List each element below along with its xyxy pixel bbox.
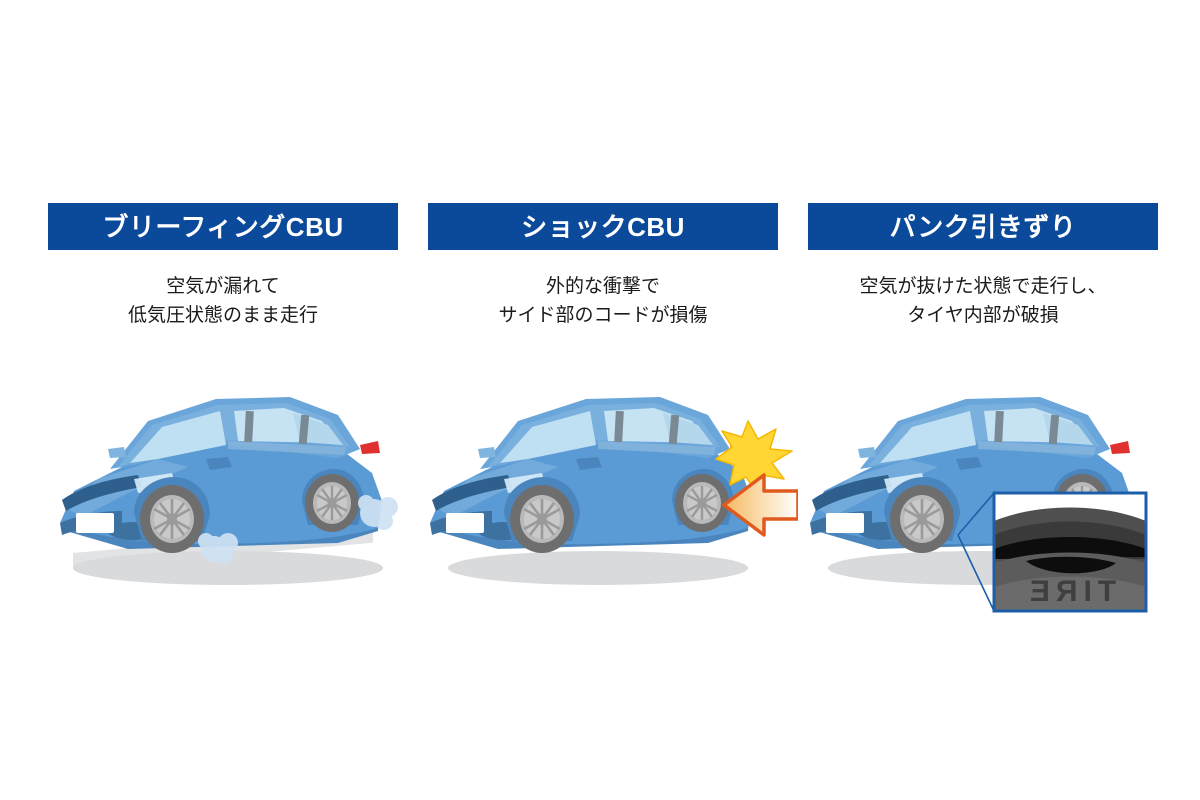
panel-header-puncture-drag: パンク引きずり: [808, 203, 1158, 250]
illustration-car-impact: [418, 363, 798, 643]
panel-description-puncture-drag: 空気が抜けた状態で走行し、 タイヤ内部が破損: [808, 272, 1158, 331]
callout-tire-text: TIRE: [1024, 575, 1116, 608]
desc-line-2: 低気圧状態のまま走行: [48, 301, 398, 330]
panel-header-shock-cbu: ショックCBU: [428, 203, 778, 250]
infographic-board: ブリーフィングCBU 空気が漏れて 低気圧状態のまま走行: [0, 0, 1200, 800]
panel-breathing-cbu: ブリーフィングCBU 空気が漏れて 低気圧状態のまま走行: [48, 203, 398, 331]
panel-title-breathing-cbu: ブリーフィングCBU: [102, 214, 343, 240]
panel-description-breathing-cbu: 空気が漏れて 低気圧状態のまま走行: [48, 272, 398, 331]
b-pillar: [614, 411, 624, 443]
panel-row: ブリーフィングCBU 空気が漏れて 低気圧状態のまま走行: [48, 203, 1158, 331]
panel-title-shock-cbu: ショックCBU: [521, 214, 685, 240]
license-plate: [446, 513, 484, 533]
license-plate: [76, 513, 114, 533]
mirror-far: [858, 447, 876, 458]
panel-header-breathing-cbu: ブリーフィングCBU: [48, 203, 398, 250]
mirror-far: [108, 447, 126, 458]
wheel-rear: [672, 469, 734, 532]
desc-line-1: 外的な衝撃で: [428, 272, 778, 301]
panel-puncture-drag: パンク引きずり 空気が抜けた状態で走行し、 タイヤ内部が破損: [808, 203, 1158, 331]
panel-description-shock-cbu: 外的な衝撃で サイド部のコードが損傷: [428, 272, 778, 331]
desc-line-2: サイド部のコードが損傷: [428, 301, 778, 330]
desc-line-1: 空気が漏れて: [48, 272, 398, 301]
wheel-rear: [302, 469, 364, 532]
license-plate: [826, 513, 864, 533]
b-pillar: [994, 411, 1004, 443]
taillight: [360, 441, 380, 454]
desc-line-1: 空気が抜けた状態で走行し、: [808, 272, 1158, 301]
b-pillar: [244, 411, 254, 443]
illustration-car-tire-damage: TIRE: [798, 363, 1178, 643]
callout-box-tire-interior: TIRE: [994, 493, 1146, 611]
panel-shock-cbu: ショックCBU 外的な衝撃で サイド部のコードが損傷: [428, 203, 778, 331]
panel-title-puncture-drag: パンク引きずり: [890, 214, 1077, 240]
taillight: [1110, 441, 1130, 454]
car-ground-shadow: [448, 551, 748, 585]
callout-tire-lettering: TIRE: [1024, 575, 1116, 608]
illustration-car-air-leak: [38, 363, 418, 643]
mirror-far: [478, 447, 496, 458]
desc-line-2: タイヤ内部が破損: [808, 301, 1158, 330]
